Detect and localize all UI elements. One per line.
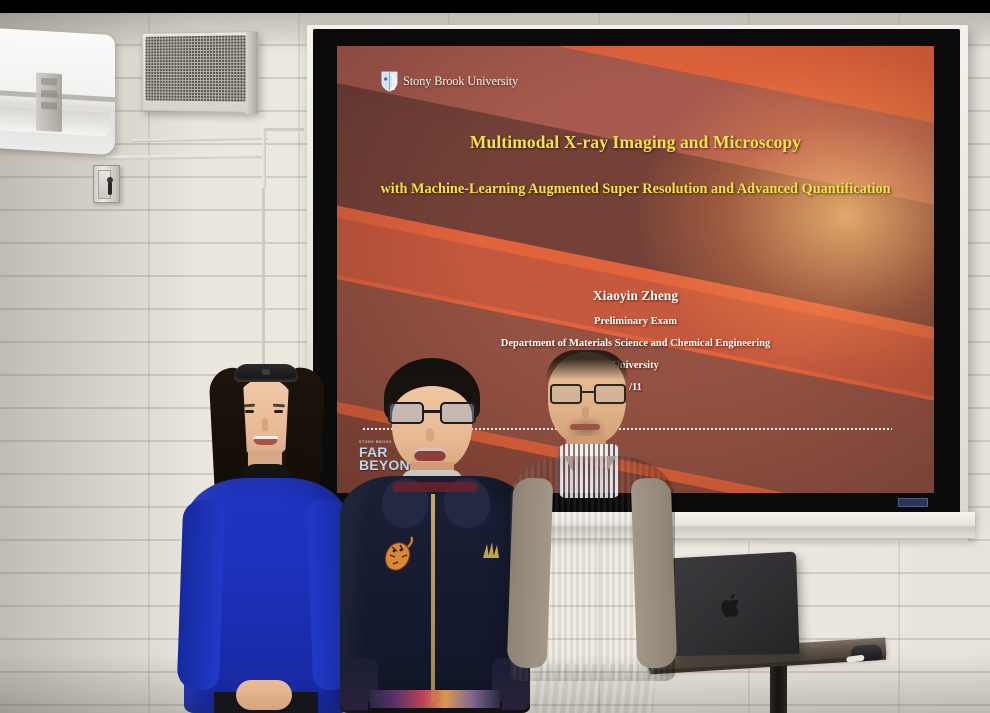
speaker-grille	[146, 35, 246, 101]
youth-lens-left	[388, 402, 424, 424]
woman-eye-right	[274, 410, 283, 413]
ac-unit	[0, 25, 115, 155]
woman-sleeve-left	[177, 499, 226, 690]
author-exam-type: Preliminary Exam	[337, 316, 934, 327]
woman-nose	[262, 418, 268, 431]
woman-mouth	[253, 436, 278, 445]
slide-title: Multimodal X-ray Imaging and Microscopy	[337, 132, 934, 153]
youth-glasses-bridge	[424, 410, 440, 413]
ac-unit-side-panel	[36, 73, 62, 133]
macbook-laptop[interactable]	[670, 552, 800, 656]
ceiling-speaker	[142, 31, 259, 113]
tiger-patch-icon	[380, 533, 414, 575]
youth-mouth	[414, 448, 446, 461]
shield-icon	[381, 71, 398, 92]
sunglasses-on-head	[234, 364, 298, 382]
lectern-post	[770, 660, 787, 713]
man-lens-left	[550, 384, 582, 404]
key-switch-box[interactable]	[93, 165, 120, 203]
man-jeans	[534, 664, 654, 713]
presentation-clicker[interactable]	[850, 644, 882, 662]
man-glasses-bridge	[582, 391, 594, 393]
display-brand-badge	[898, 498, 928, 507]
university-name-text: Stony Brook University	[403, 74, 518, 89]
man-glasses	[548, 384, 628, 404]
woman-brow-right	[273, 404, 285, 407]
person-center-young-man	[340, 358, 530, 713]
youth-collar-trim	[392, 482, 478, 492]
youth-glasses	[388, 402, 476, 424]
jacket-brand-logo-icon	[480, 540, 502, 560]
youth-lens-right	[440, 402, 476, 424]
man-sleeve-right	[631, 477, 678, 668]
man-hair	[546, 350, 628, 380]
photo-scene: Stony Brook University Multimodal X-ray …	[0, 0, 990, 713]
man-lens-right	[594, 384, 626, 404]
slide-subtitle: with Machine-Learning Augmented Super Re…	[337, 181, 934, 198]
apple-logo-icon	[721, 593, 744, 620]
woman-eye-left	[245, 410, 254, 413]
author-department: Department of Materials Science and Chem…	[337, 338, 934, 349]
person-right-man	[510, 352, 675, 713]
youth-waistband-pattern	[370, 690, 500, 708]
conduit-vertical	[262, 128, 266, 188]
key-switch-plate	[98, 170, 111, 199]
man-sleeve-left	[507, 477, 554, 668]
person-left-woman	[178, 360, 353, 713]
woman-clasped-hands	[236, 680, 292, 710]
man-mouth	[570, 424, 600, 430]
youth-jacket-zipper	[431, 494, 435, 709]
letterbox-top-bar	[0, 0, 990, 13]
author-name: Xiaoyin Zheng	[337, 288, 934, 304]
stony-brook-university-logo: Stony Brook University	[381, 71, 518, 92]
woman-brow-left	[243, 404, 255, 407]
speaker-edge	[246, 32, 258, 114]
youth-nose	[426, 428, 434, 442]
key-switch-slot	[108, 182, 112, 195]
